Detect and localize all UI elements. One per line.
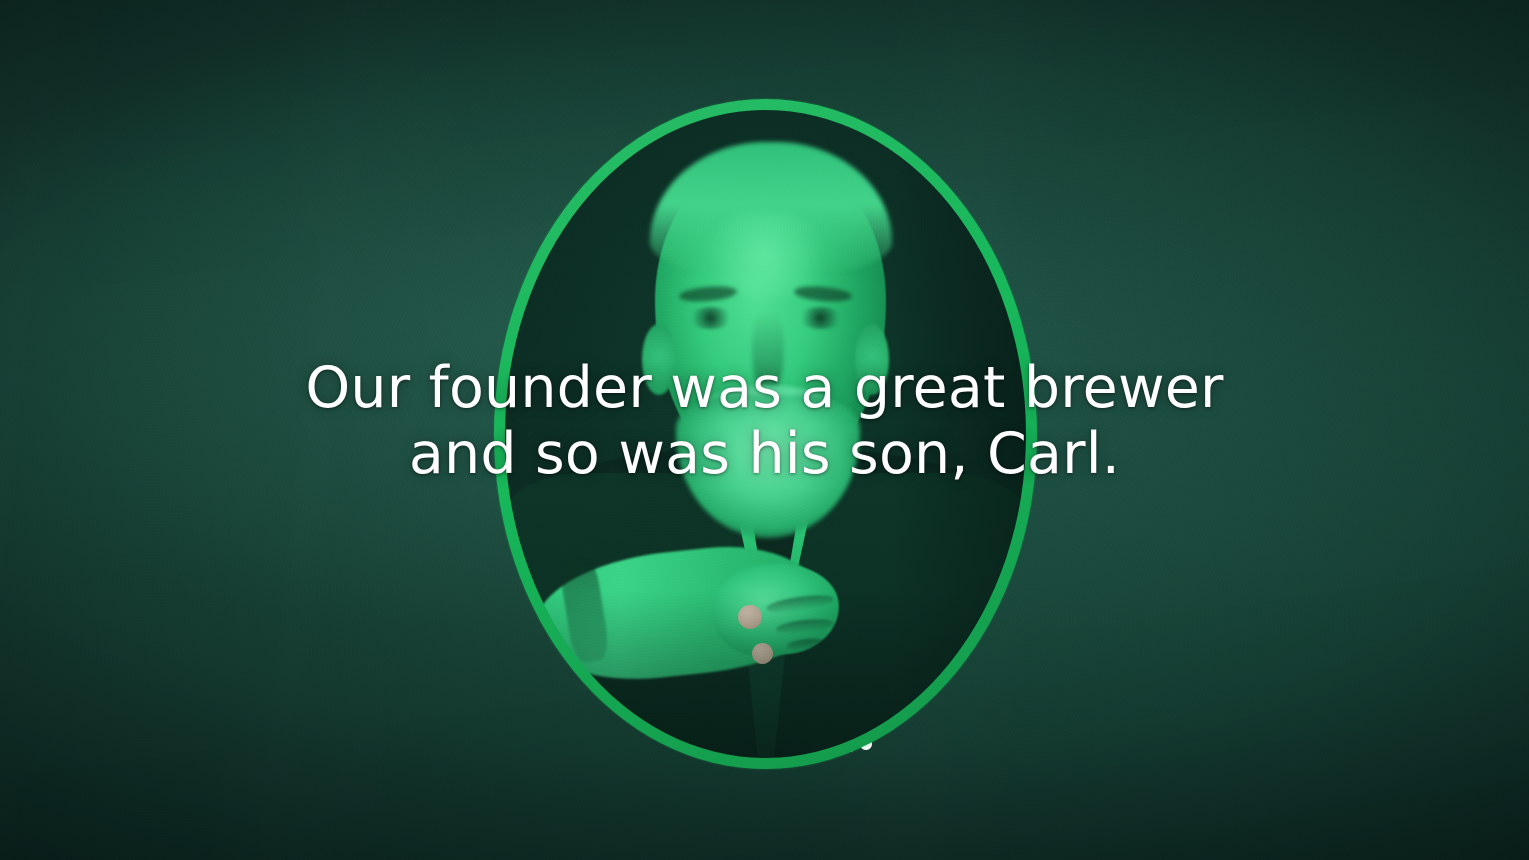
slide-stage: Our founder was a great brewer and so wa… <box>0 0 1529 860</box>
caption-line-1: Our founder was a great brewer <box>0 355 1529 421</box>
caption-text-block: Our founder was a great brewer and so wa… <box>0 355 1529 487</box>
caption-line-2: and so was his son, Carl. <box>0 421 1529 487</box>
